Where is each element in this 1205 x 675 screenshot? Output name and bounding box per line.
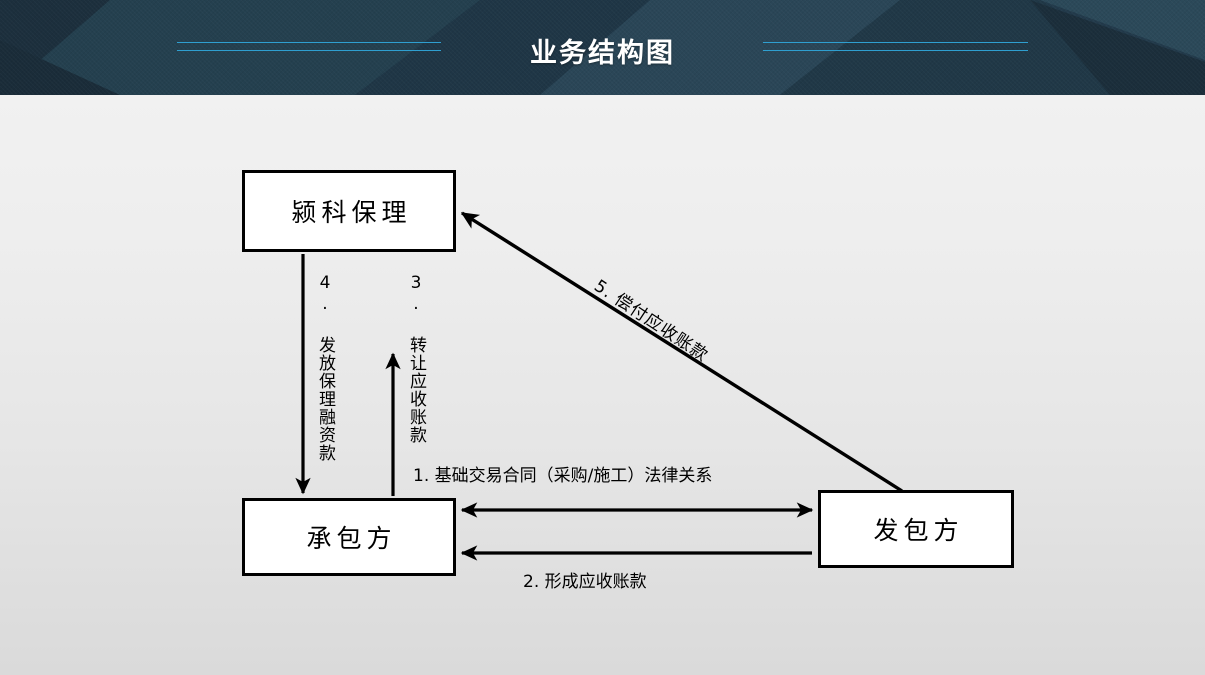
page-title: 业务结构图 bbox=[0, 31, 1205, 70]
edge-label-1: 1. 基础交易合同（采购/施工）法律关系 bbox=[413, 461, 712, 486]
slide-canvas: 业务结构图 bbox=[0, 0, 1205, 675]
business-structure-diagram: 颍科保理 承包方 发包方 4. 发放保理融资款 3. 转让应收账款 5. 偿付应… bbox=[0, 95, 1205, 675]
edge-label-4: 4. 发放保理融资款 bbox=[313, 273, 338, 462]
edge-label-3: 3. 转让应收账款 bbox=[404, 273, 429, 444]
node-contractor[interactable]: 承包方 bbox=[242, 498, 456, 576]
slide-header: 业务结构图 bbox=[0, 0, 1205, 95]
node-factor[interactable]: 颍科保理 bbox=[242, 170, 456, 252]
node-employer[interactable]: 发包方 bbox=[818, 490, 1014, 568]
edge-label-2: 2. 形成应收账款 bbox=[523, 567, 647, 592]
